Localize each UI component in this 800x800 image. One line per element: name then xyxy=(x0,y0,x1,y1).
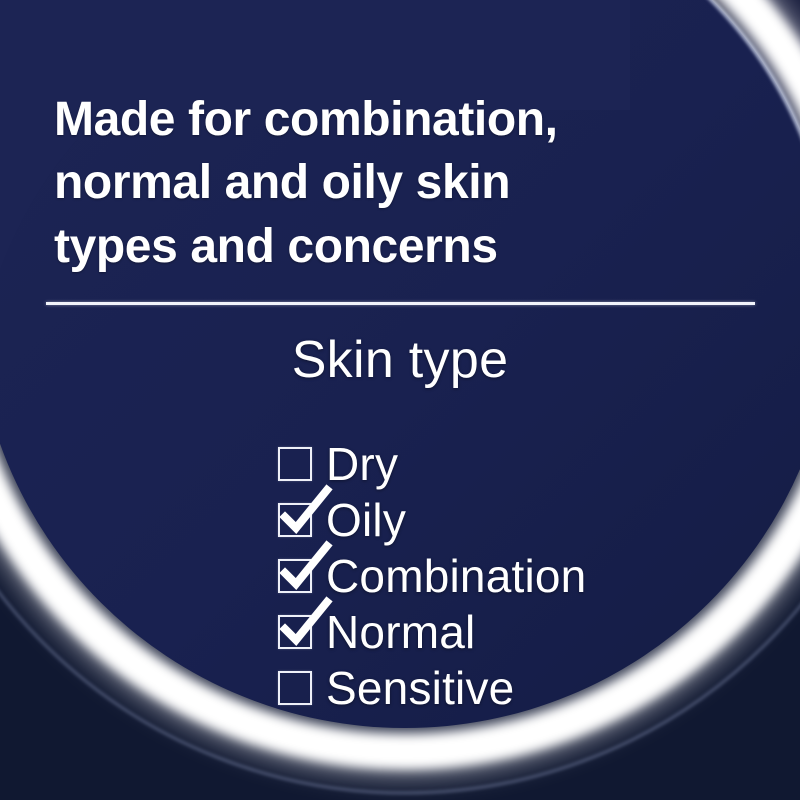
list-item[interactable]: Sensitive xyxy=(278,660,718,716)
page-title: Made for combination, normal and oily sk… xyxy=(54,88,744,278)
list-item-label: Dry xyxy=(326,441,398,487)
list-item[interactable]: Normal xyxy=(278,604,718,660)
section-subtitle: Skin type xyxy=(0,330,800,390)
skin-type-checklist: Dry Oily Com xyxy=(278,436,718,716)
content-root: Made for combination, normal and oily sk… xyxy=(0,0,800,800)
checkbox-outline xyxy=(278,559,312,593)
list-item-label: Sensitive xyxy=(326,665,514,711)
infographic-canvas: Made for combination, normal and oily sk… xyxy=(0,0,800,800)
list-item[interactable]: Oily xyxy=(278,492,718,548)
checked-checkbox-icon[interactable] xyxy=(278,503,312,537)
checkbox-outline xyxy=(278,671,312,705)
list-item-label: Normal xyxy=(326,609,475,655)
checkbox-outline xyxy=(278,447,312,481)
list-item[interactable]: Dry xyxy=(278,436,718,492)
empty-checkbox-icon[interactable] xyxy=(278,671,312,705)
checked-checkbox-icon[interactable] xyxy=(278,615,312,649)
checkbox-outline xyxy=(278,503,312,537)
list-item-label: Oily xyxy=(326,497,406,543)
list-item[interactable]: Combination xyxy=(278,548,718,604)
checked-checkbox-icon[interactable] xyxy=(278,559,312,593)
divider xyxy=(46,302,755,305)
list-item-label: Combination xyxy=(326,553,586,599)
empty-checkbox-icon[interactable] xyxy=(278,447,312,481)
checkbox-outline xyxy=(278,615,312,649)
